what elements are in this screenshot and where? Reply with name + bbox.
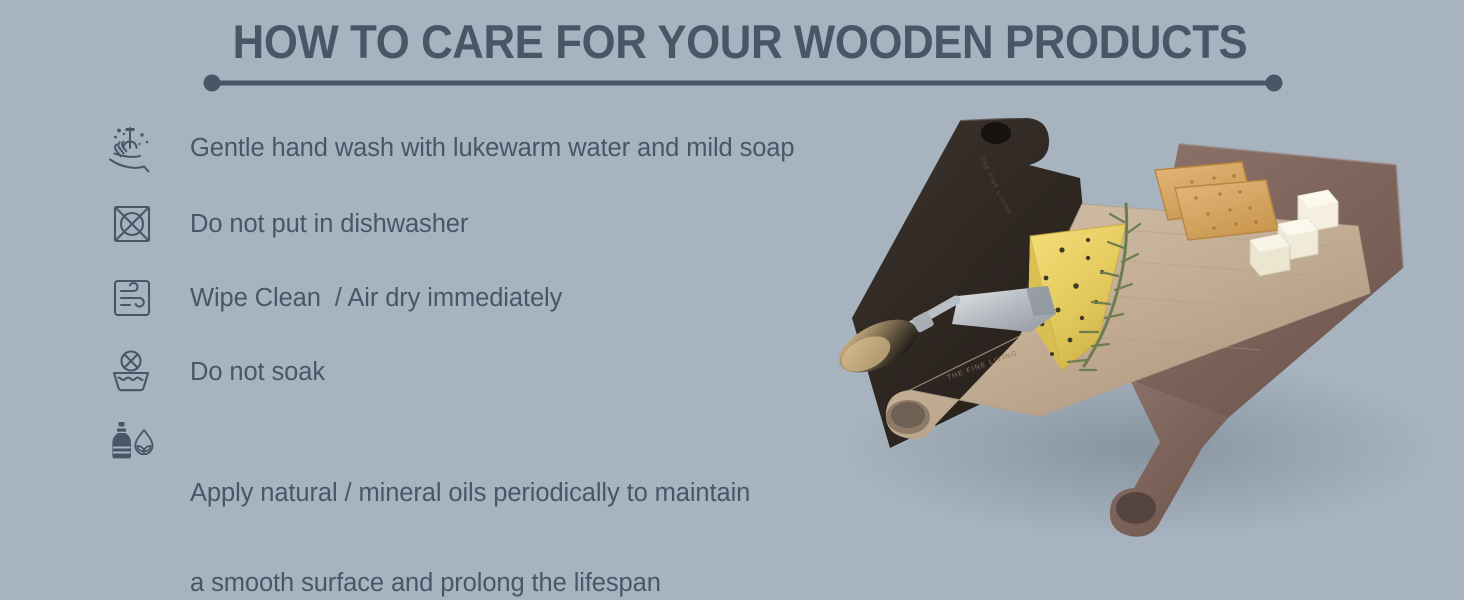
care-item-label: Do not put in dishwasher xyxy=(162,196,860,252)
wipe-clean-air-dry-icon xyxy=(100,270,162,326)
care-item-apply-oil: Apply natural / mineral oils periodicall… xyxy=(100,412,860,600)
header: HOW TO CARE FOR YOUR WOODEN PRODUCTS xyxy=(180,14,1300,94)
no-soak-icon xyxy=(100,344,162,400)
page-title: HOW TO CARE FOR YOUR WOODEN PRODUCTS xyxy=(219,14,1261,70)
hand-wash-icon xyxy=(100,120,162,176)
care-item-label-line-1: Apply natural / mineral oils periodicall… xyxy=(190,478,860,508)
care-item-label: Do not soak xyxy=(162,344,860,400)
care-item-label-line-2: a smooth surface and prolong the lifespa… xyxy=(190,568,860,598)
care-item-wipe-clean: Wipe Clean / Air dry immediately xyxy=(100,268,860,342)
care-infographic: HOW TO CARE FOR YOUR WOODEN PRODUCTS xyxy=(0,0,1464,600)
care-item-hand-wash: Gentle hand wash with lukewarm water and… xyxy=(100,118,860,194)
care-item-no-dishwasher: Do not put in dishwasher xyxy=(100,194,860,268)
product-photo: THE FINE LIVING THE FINE LIVING xyxy=(830,118,1464,538)
title-divider xyxy=(200,74,1286,92)
care-instruction-list: Gentle hand wash with lukewarm water and… xyxy=(100,118,860,600)
oil-bottle-icon xyxy=(100,414,162,470)
care-item-no-soak: Do not soak xyxy=(100,342,860,412)
care-item-label: Wipe Clean / Air dry immediately xyxy=(162,270,860,326)
no-dishwasher-icon xyxy=(100,196,162,252)
care-item-label: Gentle hand wash with lukewarm water and… xyxy=(162,120,860,176)
care-item-label-block: Apply natural / mineral oils periodicall… xyxy=(162,414,860,600)
